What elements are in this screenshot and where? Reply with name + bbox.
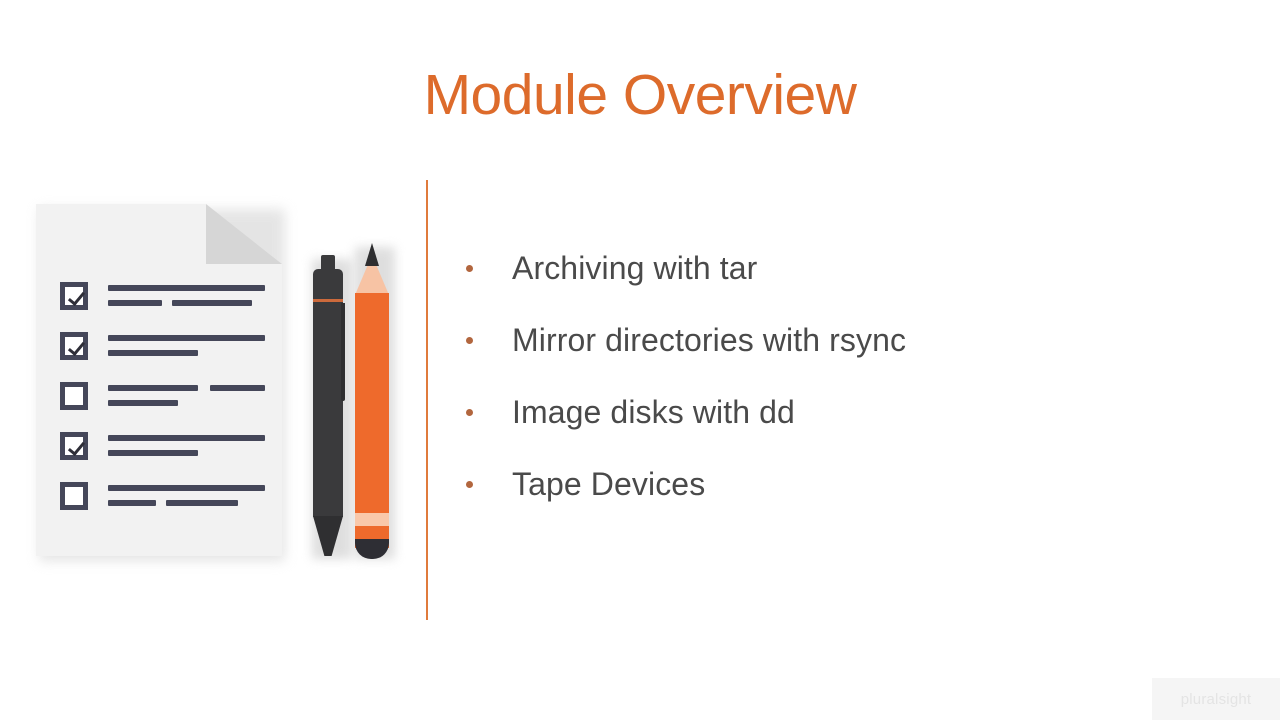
checklist-text-line [108, 500, 156, 506]
checklist-text-line [166, 500, 238, 506]
checklist-text-line [108, 285, 265, 291]
module-topic-list: Archiving with tar Mirror directories wi… [466, 232, 1226, 520]
check-mark-icon [68, 438, 85, 456]
checklist-text-line [108, 300, 162, 306]
list-item: Archiving with tar [466, 232, 1226, 304]
checklist-row [60, 432, 265, 476]
orange-pencil-illustration [352, 243, 398, 561]
pen-head [313, 269, 343, 301]
checklist-text-line [172, 300, 252, 306]
ballpoint-pen-illustration [309, 255, 355, 560]
checklist-text-line [108, 385, 198, 391]
checklist-text-line [108, 450, 198, 456]
pen-clip [341, 303, 345, 401]
checklist-text-line [108, 485, 265, 491]
brand-watermark-label: pluralsight [1181, 691, 1252, 708]
page-title: Module Overview [0, 62, 1280, 128]
bullet-dot-icon [466, 409, 473, 416]
list-item-label: Archiving with tar [512, 250, 757, 287]
checkbox-checked-icon [60, 332, 88, 360]
brand-watermark: pluralsight [1152, 678, 1280, 720]
checklist-row [60, 282, 265, 326]
checklist-text-line [108, 400, 178, 406]
check-mark-icon [68, 338, 85, 356]
checkbox-unchecked-icon [60, 382, 88, 410]
check-mark-icon [68, 288, 85, 306]
pen-barrel [313, 302, 343, 517]
list-item: Mirror directories with rsync [466, 304, 1226, 376]
list-item-label: Mirror directories with rsync [512, 322, 906, 359]
checkbox-unchecked-icon [60, 482, 88, 510]
list-item-label: Tape Devices [512, 466, 705, 503]
checklist-document-illustration [36, 204, 288, 560]
bullet-dot-icon [466, 337, 473, 344]
list-item: Image disks with dd [466, 376, 1226, 448]
list-item-label: Image disks with dd [512, 394, 795, 431]
checklist-text-line [108, 335, 265, 341]
checklist-row [60, 382, 265, 426]
checklist-text-line [108, 350, 198, 356]
checklist-row [60, 332, 265, 376]
slide-canvas: Module Overview [0, 0, 1280, 720]
pencil-barrel [355, 293, 389, 521]
checklist-text-line [210, 385, 265, 391]
checklist-text-line [108, 435, 265, 441]
checkbox-checked-icon [60, 432, 88, 460]
pencil-ferrule-band [355, 513, 389, 527]
vertical-accent-divider [426, 180, 428, 620]
checkbox-checked-icon [60, 282, 88, 310]
bullet-dot-icon [466, 265, 473, 272]
bullet-dot-icon [466, 481, 473, 488]
list-item: Tape Devices [466, 448, 1226, 520]
checklist-row [60, 482, 265, 526]
